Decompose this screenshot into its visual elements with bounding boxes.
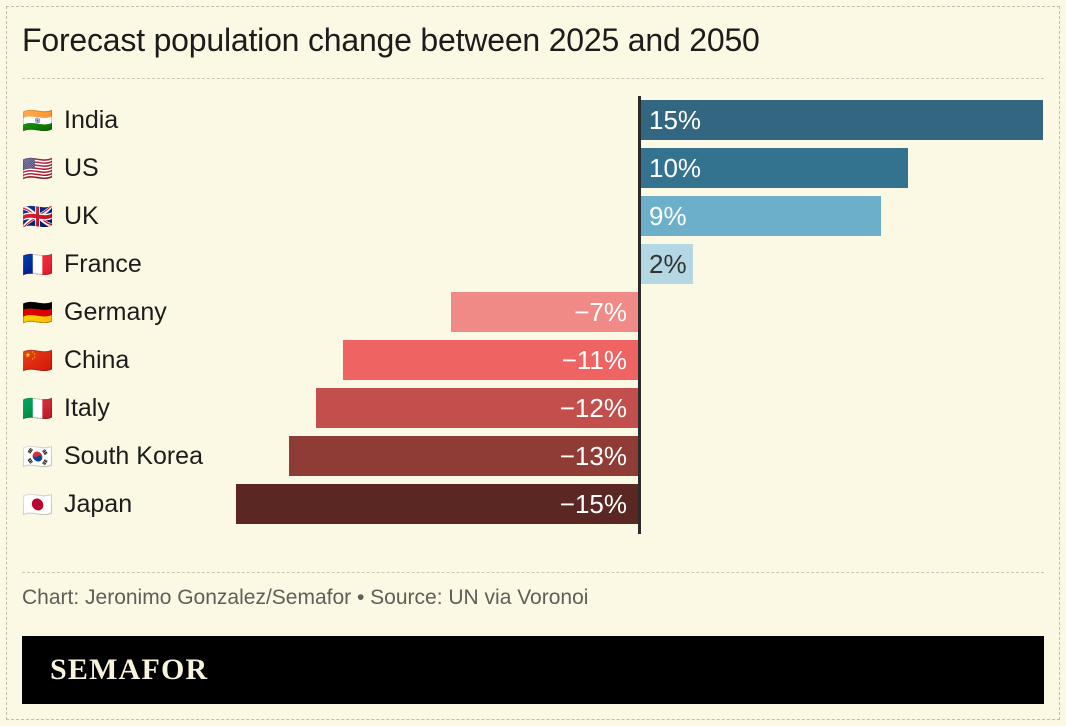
bar-france: 2%: [639, 244, 693, 284]
divider-bottom: [22, 572, 1044, 573]
country-name: France: [64, 252, 142, 277]
bar-value-label: −13%: [560, 443, 627, 469]
bar-italy: −12%: [316, 388, 639, 428]
chart-row: 🇺🇸US10%: [0, 144, 1066, 192]
chart-row: 🇫🇷France2%: [0, 240, 1066, 288]
flag-icon: 🇮🇹: [22, 396, 54, 421]
flag-icon: 🇨🇳: [22, 348, 54, 373]
bar-value-label: −7%: [574, 299, 627, 325]
category-label-italy: 🇮🇹Italy: [22, 384, 110, 432]
category-label-germany: 🇩🇪Germany: [22, 288, 167, 336]
bar-value-label: 9%: [649, 203, 687, 229]
bar-us: 10%: [639, 148, 908, 188]
chart-row: 🇬🇧UK9%: [0, 192, 1066, 240]
chart-row: 🇮🇳India15%: [0, 96, 1066, 144]
page-title: Forecast population change between 2025 …: [22, 14, 1042, 66]
semafor-logo-bar: SEMAFOR: [22, 636, 1044, 704]
category-label-china: 🇨🇳China: [22, 336, 129, 384]
category-label-india: 🇮🇳India: [22, 96, 118, 144]
category-label-france: 🇫🇷France: [22, 240, 142, 288]
chart-card: Forecast population change between 2025 …: [0, 0, 1066, 726]
bar-value-label: −11%: [562, 347, 627, 373]
bar-value-label: 10%: [649, 155, 701, 181]
chart-row: 🇩🇪Germany−7%: [0, 288, 1066, 336]
divider-top: [22, 78, 1044, 79]
flag-icon: 🇯🇵: [22, 492, 54, 517]
bar-value-label: 2%: [649, 251, 687, 277]
country-name: South Korea: [64, 444, 203, 469]
chart-row: 🇮🇹Italy−12%: [0, 384, 1066, 432]
flag-icon: 🇬🇧: [22, 204, 54, 229]
title-area: Forecast population change between 2025 …: [22, 14, 1042, 70]
bar-germany: −7%: [451, 292, 639, 332]
country-name: Japan: [64, 492, 132, 517]
chart-row: 🇰🇷South Korea−13%: [0, 432, 1066, 480]
bar-value-label: −12%: [560, 395, 627, 421]
bar-uk: 9%: [639, 196, 881, 236]
country-name: UK: [64, 204, 99, 229]
semafor-wordmark: SEMAFOR: [50, 653, 208, 687]
category-label-south-korea: 🇰🇷South Korea: [22, 432, 203, 480]
flag-icon: 🇩🇪: [22, 300, 54, 325]
category-label-uk: 🇬🇧UK: [22, 192, 99, 240]
flag-icon: 🇫🇷: [22, 252, 54, 277]
bar-chart-plot: 🇮🇳India15%🇺🇸US10%🇬🇧UK9%🇫🇷France2%🇩🇪Germa…: [0, 96, 1066, 548]
country-name: China: [64, 348, 129, 373]
category-label-japan: 🇯🇵Japan: [22, 480, 132, 528]
country-name: Germany: [64, 300, 167, 325]
flag-icon: 🇺🇸: [22, 156, 54, 181]
bar-value-label: 15%: [649, 107, 701, 133]
bar-south-korea: −13%: [289, 436, 639, 476]
bar-india: 15%: [639, 100, 1043, 140]
flag-icon: 🇰🇷: [22, 444, 54, 469]
category-label-us: 🇺🇸US: [22, 144, 99, 192]
country-name: US: [64, 156, 99, 181]
bar-china: −11%: [343, 340, 639, 380]
country-name: Italy: [64, 396, 110, 421]
zero-axis-line: [638, 96, 641, 534]
flag-icon: 🇮🇳: [22, 108, 54, 133]
country-name: India: [64, 108, 118, 133]
chart-row: 🇨🇳China−11%: [0, 336, 1066, 384]
bar-japan: −15%: [236, 484, 640, 524]
chart-row: 🇯🇵Japan−15%: [0, 480, 1066, 528]
bar-value-label: −15%: [560, 491, 627, 517]
chart-credit: Chart: Jeronimo Gonzalez/Semafor • Sourc…: [22, 586, 588, 610]
